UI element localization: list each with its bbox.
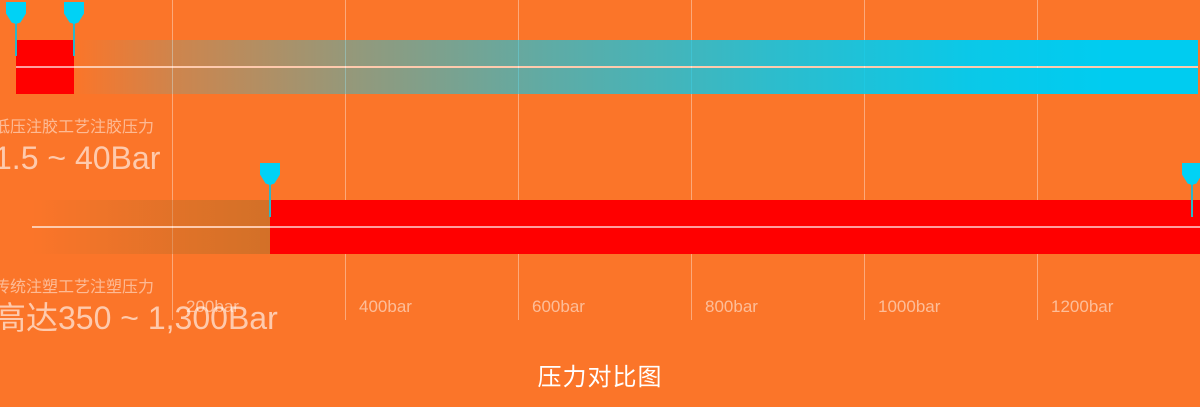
series-b-trail-lower bbox=[32, 228, 270, 254]
axis-tick-800: 800bar bbox=[705, 297, 758, 317]
pin-icon bbox=[260, 163, 280, 185]
pressure-comparison-chart: 低压注胶工艺注胶压力 1.5 ~ 40Bar 传统注塑工艺注塑压力 高达350 … bbox=[0, 0, 1200, 407]
series-a-trail-upper bbox=[74, 40, 1198, 66]
series-a-trail-lower bbox=[74, 68, 1198, 94]
pin-icon bbox=[64, 2, 84, 24]
series-a-trail-seam bbox=[74, 66, 1198, 68]
axis-tick-400: 400bar bbox=[359, 297, 412, 317]
axis-tick-200: 200bar bbox=[186, 297, 239, 317]
series-a-trail-band bbox=[74, 40, 1198, 94]
axis-tick-1200: 1200bar bbox=[1051, 297, 1113, 317]
pin-icon bbox=[1182, 163, 1200, 185]
series-b-trail-upper bbox=[32, 200, 270, 226]
chart-caption: 压力对比图 bbox=[0, 362, 1200, 394]
series-b-bar[interactable] bbox=[270, 200, 1200, 254]
series-b-trail-band bbox=[32, 200, 270, 254]
series-a-caption: 低压注胶工艺注胶压力 bbox=[0, 118, 160, 138]
axis-tick-1000: 1000bar bbox=[878, 297, 940, 317]
series-a-bar[interactable] bbox=[16, 40, 74, 94]
series-a-description: 低压注胶工艺注胶压力 1.5 ~ 40Bar bbox=[0, 118, 160, 178]
series-b-trail-seam bbox=[32, 226, 270, 228]
series-a-value-label: 1.5 ~ 40Bar bbox=[0, 138, 160, 178]
series-b-bar-seam bbox=[270, 226, 1200, 228]
pin-icon bbox=[6, 2, 26, 24]
series-b-caption: 传统注塑工艺注塑压力 bbox=[0, 278, 278, 298]
axis-tick-600: 600bar bbox=[532, 297, 585, 317]
series-a-bar-seam bbox=[16, 66, 74, 68]
